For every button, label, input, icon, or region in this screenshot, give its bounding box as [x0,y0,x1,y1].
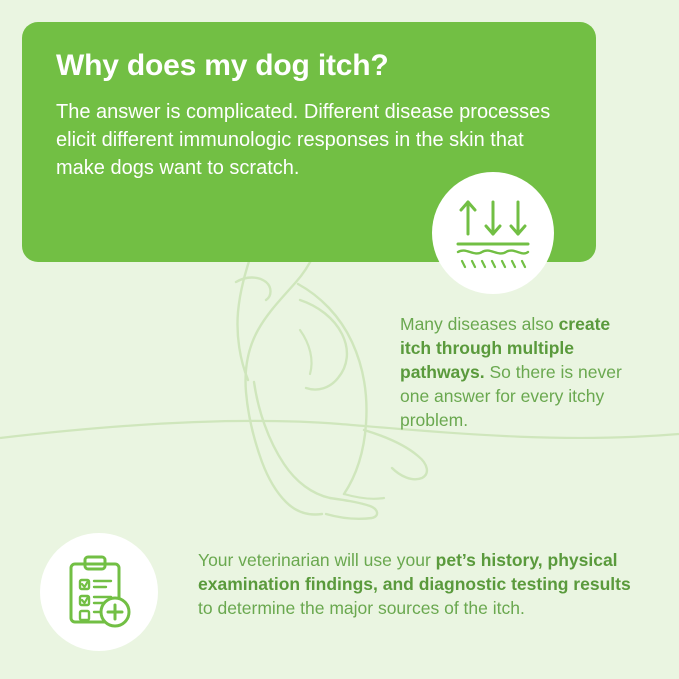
paragraph-veterinarian: Your veterinarian will use your pet’s hi… [198,548,638,620]
skin-layers-arrows-icon-badge [432,172,554,294]
page-title: Why does my dog itch? [56,48,562,84]
clipboard-plus-icon [63,554,135,630]
pathways-text-part1: Many diseases also [400,314,559,334]
skin-layers-arrows-icon [454,196,532,270]
infographic-poster: Why does my dog itch? The answer is comp… [0,0,679,679]
vet-text-part2: to determine the major sources of the it… [198,598,525,618]
paragraph-pathways: Many diseases also create itch through m… [400,312,632,432]
header-body-text: The answer is complicated. Different dis… [56,98,562,182]
clipboard-plus-icon-badge [40,533,158,651]
vet-text-part1: Your veterinarian will use your [198,550,436,570]
